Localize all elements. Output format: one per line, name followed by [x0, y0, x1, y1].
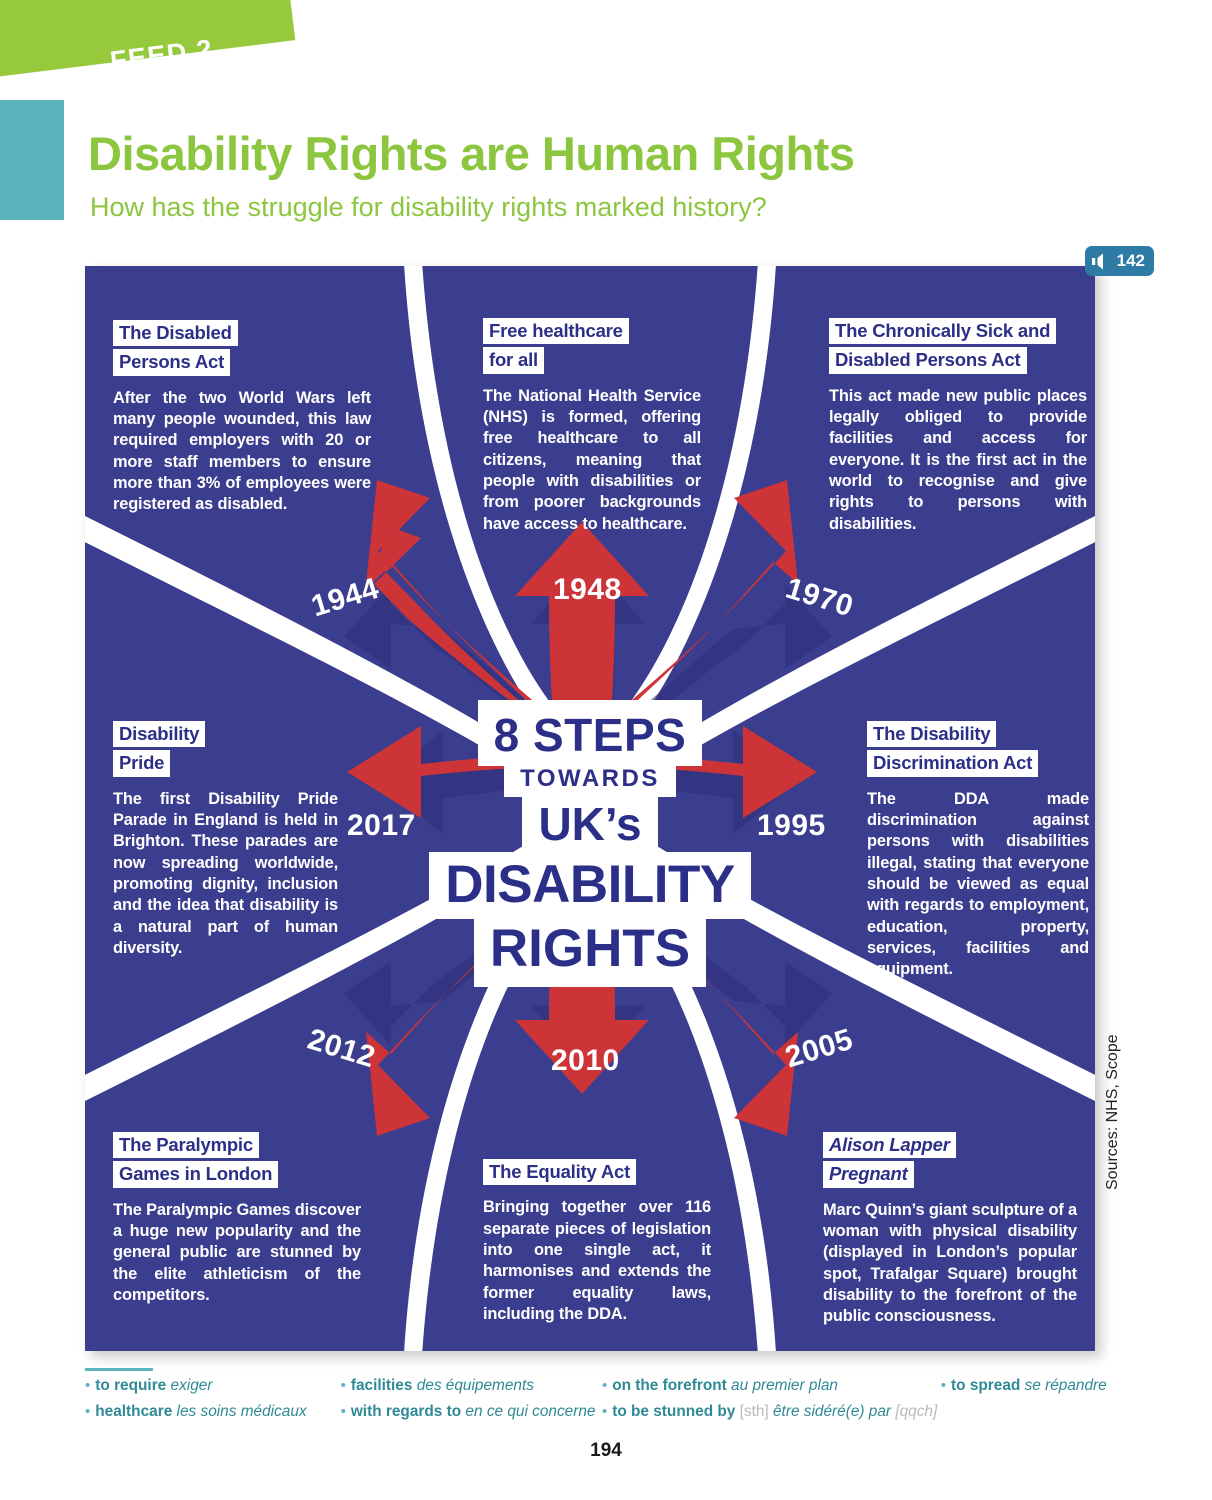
step-block-1948: Free healthcare for all The National Hea… — [483, 318, 701, 535]
bullet-icon: • — [602, 1377, 607, 1394]
step-body-2010: Bringing together over 116 separate piec… — [483, 1197, 711, 1325]
vocab-item: •on the forefront au premier plan — [602, 1376, 941, 1396]
vocab-column-2: •facilities des équipements •with regard… — [341, 1376, 602, 1422]
center-line-5: RIGHTS — [474, 916, 706, 987]
vocab-item: •to require exiger — [85, 1376, 341, 1396]
step-block-2012: The Paralympic Games in London The Paral… — [113, 1132, 361, 1306]
step-block-2010: The Equality Act Bringing together over … — [483, 1159, 711, 1325]
vocab-item: •to spread se répandre — [941, 1376, 1115, 1396]
step-heading-2005: Alison Lapper Pregnant — [823, 1132, 1077, 1191]
center-title: 8 STEPS TOWARDS UK’s DISABILITY RIGHTS — [85, 700, 1095, 987]
bullet-icon: • — [85, 1377, 90, 1394]
year-label-1995: 1995 — [757, 809, 826, 843]
vocab-column-4: •to spread se répandre — [941, 1376, 1115, 1422]
step-body-2005: Marc Quinn’s giant sculpture of a woman … — [823, 1200, 1077, 1328]
infographic-panel: 1944 1948 1970 1995 2005 2010 2012 2017 … — [85, 266, 1095, 1351]
vocab-divider — [85, 1368, 153, 1371]
sources-label: Sources: NHS, Scope — [1104, 1034, 1122, 1190]
bullet-icon: • — [602, 1403, 607, 1420]
bullet-icon: • — [341, 1403, 346, 1420]
page-subtitle: How has the struggle for disability righ… — [90, 192, 767, 223]
page-title: Disability Rights are Human Rights — [88, 126, 854, 181]
vocab-item: •healthcare les soins médicaux — [85, 1402, 341, 1422]
center-line-2: TOWARDS — [504, 763, 676, 797]
step-block-1944: The Disabled Persons Act After the two W… — [113, 320, 371, 516]
step-heading-2012: The Paralympic Games in London — [113, 1132, 361, 1191]
center-line-4: DISABILITY — [429, 852, 750, 919]
year-label-1948: 1948 — [553, 573, 622, 607]
vocab-column-1: •to require exiger •healthcare les soins… — [85, 1376, 341, 1422]
audio-track-badge[interactable]: 142 — [1085, 246, 1154, 276]
step-block-2005: Alison Lapper Pregnant Marc Quinn’s gian… — [823, 1132, 1077, 1328]
center-line-1: 8 STEPS — [478, 700, 703, 766]
step-body-1970: This act made new public places legally … — [829, 386, 1087, 535]
vocab-item: •to be stunned by [sth] être sidéré(e) p… — [602, 1402, 941, 1422]
vocab-item: •with regards to en ce qui concerne — [341, 1402, 602, 1422]
bullet-icon: • — [341, 1377, 346, 1394]
vocab-item: •facilities des équipements — [341, 1376, 602, 1396]
speaker-icon — [1092, 253, 1112, 270]
year-label-2010: 2010 — [551, 1044, 620, 1078]
bullet-icon: • — [941, 1377, 946, 1394]
page-root: FEED 2 Disability Rights are Human Right… — [0, 0, 1212, 1500]
step-body-1948: The National Health Service (NHS) is for… — [483, 386, 701, 535]
step-heading-1948: Free healthcare for all — [483, 318, 701, 377]
bullet-icon: • — [85, 1403, 90, 1420]
step-heading-1970: The Chronically Sick and Disabled Person… — [829, 318, 1087, 377]
teal-corner-block — [0, 100, 64, 220]
step-heading-1944: The Disabled Persons Act — [113, 320, 371, 379]
year-label-2017: 2017 — [347, 809, 416, 843]
step-block-1970: The Chronically Sick and Disabled Person… — [829, 318, 1087, 535]
center-line-3: UK’s — [522, 795, 657, 855]
step-heading-2010: The Equality Act — [483, 1159, 711, 1188]
page-number: 194 — [0, 1440, 1212, 1462]
audio-track-number: 142 — [1117, 251, 1145, 271]
step-body-1944: After the two World Wars left many peopl… — [113, 388, 371, 516]
step-body-2012: The Paralympic Games discover a huge new… — [113, 1200, 361, 1307]
vocabulary-list: •to require exiger •healthcare les soins… — [85, 1376, 1115, 1422]
vocab-column-3: •on the forefront au premier plan •to be… — [602, 1376, 941, 1422]
